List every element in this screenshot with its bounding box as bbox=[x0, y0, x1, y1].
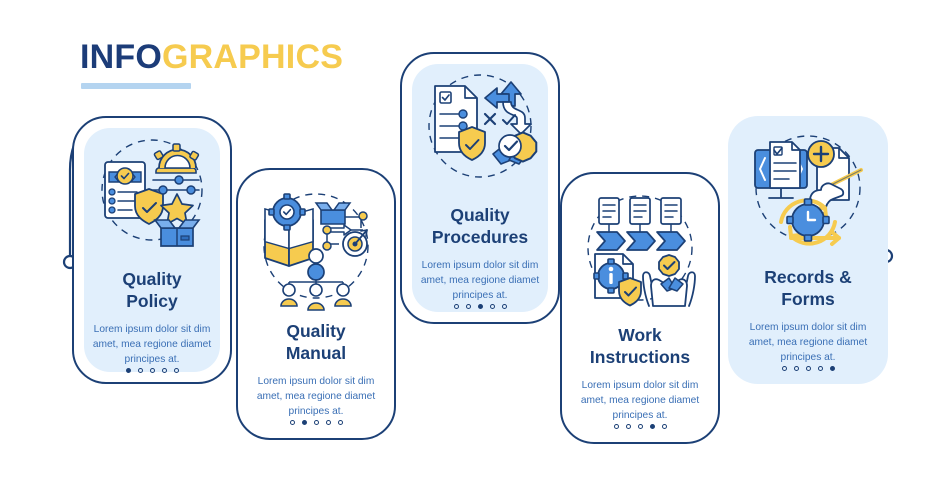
step-dot-2[interactable] bbox=[138, 368, 143, 373]
card-description: Lorem ipsum dolor sit dim amet, mea regi… bbox=[238, 374, 394, 420]
step-dot-5[interactable] bbox=[662, 424, 667, 429]
step-dot-5[interactable] bbox=[502, 304, 507, 309]
step-dot-3[interactable] bbox=[478, 304, 483, 309]
step-indicator[interactable] bbox=[782, 366, 835, 387]
step-indicator[interactable] bbox=[454, 304, 507, 325]
step-dot-2[interactable] bbox=[302, 420, 307, 425]
card-title: Records & Forms bbox=[754, 266, 862, 311]
step-dot-2[interactable] bbox=[794, 366, 799, 371]
card-title-line1: Quality bbox=[122, 269, 181, 289]
card-description: Lorem ipsum dolor sit dim amet, mea regi… bbox=[402, 258, 558, 304]
infographic-canvas: INFOGRAPHICS bbox=[0, 0, 952, 500]
card-title-line2: Instructions bbox=[590, 347, 690, 367]
card-title-line1: Quality bbox=[450, 205, 509, 225]
step-dot-2[interactable] bbox=[626, 424, 631, 429]
card-title: Quality Procedures bbox=[422, 204, 538, 249]
card-quality-policy[interactable]: Quality Policy Lorem ipsum dolor sit dim… bbox=[72, 116, 232, 384]
quality-policy-icon bbox=[87, 132, 217, 262]
card-title-line2: Manual bbox=[286, 343, 346, 363]
step-indicator[interactable] bbox=[126, 368, 179, 389]
step-dot-3[interactable] bbox=[150, 368, 155, 373]
card-title: Work Instructions bbox=[580, 324, 700, 369]
step-dot-1[interactable] bbox=[126, 368, 131, 373]
quality-procedures-icon bbox=[415, 68, 545, 198]
page-title: INFOGRAPHICS bbox=[80, 38, 343, 77]
card-description: Lorem ipsum dolor sit dim amet, mea regi… bbox=[562, 378, 718, 424]
title-part-info: INFO bbox=[80, 38, 162, 76]
card-quality-manual[interactable]: Quality Manual Lorem ipsum dolor sit dim… bbox=[236, 168, 396, 440]
step-dot-1[interactable] bbox=[614, 424, 619, 429]
step-dot-4[interactable] bbox=[162, 368, 167, 373]
step-dot-2[interactable] bbox=[466, 304, 471, 309]
card-quality-procedures[interactable]: Quality Procedures Lorem ipsum dolor sit… bbox=[400, 52, 560, 324]
quality-manual-icon bbox=[251, 184, 381, 314]
step-dot-5[interactable] bbox=[174, 368, 179, 373]
card-work-instructions[interactable]: Work Instructions Lorem ipsum dolor sit … bbox=[560, 172, 720, 444]
records-forms-icon bbox=[743, 130, 873, 260]
card-title: Quality Manual bbox=[276, 320, 356, 365]
step-dot-4[interactable] bbox=[650, 424, 655, 429]
step-dot-3[interactable] bbox=[638, 424, 643, 429]
step-dot-1[interactable] bbox=[290, 420, 295, 425]
step-dot-1[interactable] bbox=[782, 366, 787, 371]
step-dot-3[interactable] bbox=[314, 420, 319, 425]
card-records-and-forms[interactable]: Records & Forms Lorem ipsum dolor sit di… bbox=[728, 116, 888, 384]
step-dot-4[interactable] bbox=[490, 304, 495, 309]
card-title: Quality Policy bbox=[112, 268, 191, 313]
card-title-line1: Quality bbox=[286, 321, 345, 341]
card-title-line2: Policy bbox=[126, 291, 178, 311]
step-dot-1[interactable] bbox=[454, 304, 459, 309]
work-instructions-icon bbox=[575, 188, 705, 318]
card-title-line1: Records & bbox=[764, 267, 852, 287]
step-dot-4[interactable] bbox=[326, 420, 331, 425]
card-description: Lorem ipsum dolor sit dim amet, mea regi… bbox=[728, 320, 888, 366]
step-indicator[interactable] bbox=[614, 424, 667, 445]
card-title-line2: Forms bbox=[781, 289, 834, 309]
step-dot-5[interactable] bbox=[338, 420, 343, 425]
step-indicator[interactable] bbox=[290, 420, 343, 441]
step-dot-5[interactable] bbox=[830, 366, 835, 371]
card-title-line1: Work bbox=[618, 325, 661, 345]
card-title-line2: Procedures bbox=[432, 227, 528, 247]
card-description: Lorem ipsum dolor sit dim amet, mea regi… bbox=[74, 322, 230, 368]
step-dot-3[interactable] bbox=[806, 366, 811, 371]
title-underline-rule bbox=[81, 83, 191, 89]
step-dot-4[interactable] bbox=[818, 366, 823, 371]
title-part-graphics: GRAPHICS bbox=[162, 38, 343, 76]
